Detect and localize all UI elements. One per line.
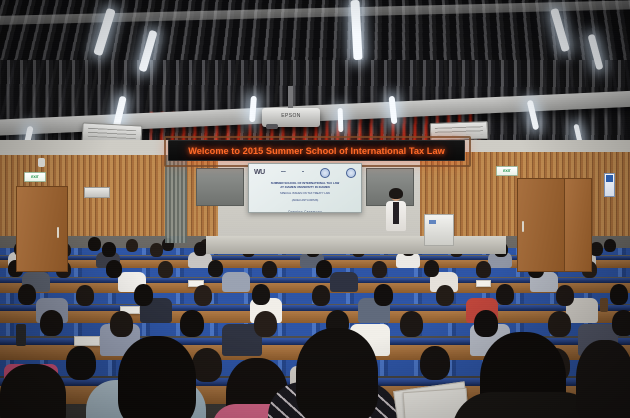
- projector-mount: [288, 86, 293, 110]
- attendee-head: [208, 260, 223, 277]
- wall-speaker-panel: [84, 187, 110, 198]
- ceiling: [0, 0, 630, 150]
- attendee-head-foreground: [118, 336, 196, 418]
- wall-camera: [38, 158, 45, 167]
- attendee-head: [102, 242, 116, 257]
- attendee-head: [254, 311, 277, 337]
- attendee-head: [610, 284, 628, 305]
- emblem-logo-1: [320, 168, 330, 178]
- lecture-hall-photo: EPSON Welcome to 2015 Summer School of I…: [0, 0, 630, 418]
- slide-subtitle-line1: SPECIAL ISSUES ON TAX TREATY LAW: [255, 192, 355, 196]
- attendee-head-foreground: [296, 328, 378, 418]
- attendee-head: [316, 260, 332, 278]
- slide-title-line2: AT XIAMEN UNIVERSITY IN XIAMEN: [255, 185, 355, 189]
- attendee-head: [110, 311, 133, 337]
- attendee-head: [262, 261, 277, 278]
- attendee-head: [134, 284, 153, 306]
- presenter-at-podium: [385, 190, 407, 240]
- stage-platform: [206, 236, 506, 254]
- attendee-head: [158, 261, 173, 278]
- lectern-podium: [424, 214, 454, 246]
- attendee-head: [436, 285, 454, 306]
- door-handle-left: [57, 227, 59, 238]
- ceiling-light-9: [338, 108, 344, 132]
- window-curtain: [165, 155, 187, 243]
- attendee-head: [66, 346, 96, 380]
- exit-sign-left: EXIT: [24, 172, 46, 182]
- partner-logo: ▬: [302, 171, 305, 174]
- drink-cup: [600, 298, 608, 312]
- attendee-head: [40, 310, 63, 336]
- slide-text-block: SUMMER SCHOOL OF INTERNATIONAL TAX LAW A…: [255, 181, 355, 213]
- exit-sign-right: EXIT: [496, 166, 518, 176]
- exit-sign-left-text: EXIT: [31, 175, 39, 179]
- attendee-head: [150, 243, 163, 257]
- attendee-head: [496, 284, 514, 305]
- attendee-head: [420, 346, 450, 380]
- attendee-head: [252, 284, 270, 305]
- attendee-head: [374, 284, 393, 306]
- attendee-head: [192, 348, 222, 382]
- presenter-hair: [389, 188, 403, 199]
- institute-logo: ▬▬: [281, 171, 286, 174]
- slide-logo-row: WU ▬▬ ▬: [254, 168, 356, 177]
- attendee-head: [400, 311, 423, 337]
- attendee-head: [126, 239, 138, 252]
- exit-sign-right-text: EXIT: [503, 169, 511, 173]
- attendee-head: [604, 239, 616, 252]
- wu-vienna-logo: WU: [254, 169, 265, 176]
- emblem-logo-2: [346, 168, 356, 178]
- attendee-torso: [330, 272, 358, 292]
- attendee-head: [312, 285, 330, 306]
- attendee-head: [194, 285, 212, 306]
- handout-paper: [74, 336, 100, 346]
- desk-row-4: [0, 311, 630, 323]
- handout-paper: [476, 280, 491, 287]
- door-handle-right: [522, 221, 524, 232]
- attendee-torso: [222, 272, 250, 292]
- slide-subtitle-line2: (AN/EU ANTI-CRISIS): [255, 199, 355, 203]
- attendee-head: [372, 261, 387, 278]
- attendee-head: [18, 284, 36, 305]
- door-right-open-leaf: [564, 178, 592, 272]
- attendee-head: [548, 311, 571, 337]
- attendee-head: [556, 285, 574, 306]
- attendee-head: [76, 285, 94, 306]
- blue-wall-sign: [604, 173, 615, 197]
- thermos-bottle: [16, 324, 26, 346]
- attendee-head: [106, 260, 122, 278]
- projector-brand-label: EPSON: [262, 113, 320, 119]
- projector-lens: [266, 124, 278, 129]
- attendee-head: [612, 310, 630, 336]
- attendee-head-foreground: [576, 340, 630, 418]
- whiteboard-left: [196, 168, 244, 206]
- attendee-head-foreground: [0, 364, 66, 418]
- door-right: [517, 178, 566, 272]
- presenter-top: [393, 202, 399, 224]
- slide-footer-opening-ceremony: Opening Ceremony: [255, 210, 355, 213]
- projection-screen: WU ▬▬ ▬ SUMMER SCHOOL OF INTERNATIONAL T…: [248, 163, 362, 213]
- led-welcome-banner: Welcome to 2015 Summer School of Interna…: [168, 140, 465, 161]
- attendee-head: [424, 260, 439, 277]
- attendee-head: [180, 310, 204, 337]
- door-left: [16, 186, 68, 272]
- led-banner-text: Welcome to 2015 Summer School of Interna…: [188, 146, 445, 156]
- attendee-head: [476, 261, 491, 278]
- attendee-head: [474, 310, 498, 337]
- attendee-head: [88, 237, 101, 251]
